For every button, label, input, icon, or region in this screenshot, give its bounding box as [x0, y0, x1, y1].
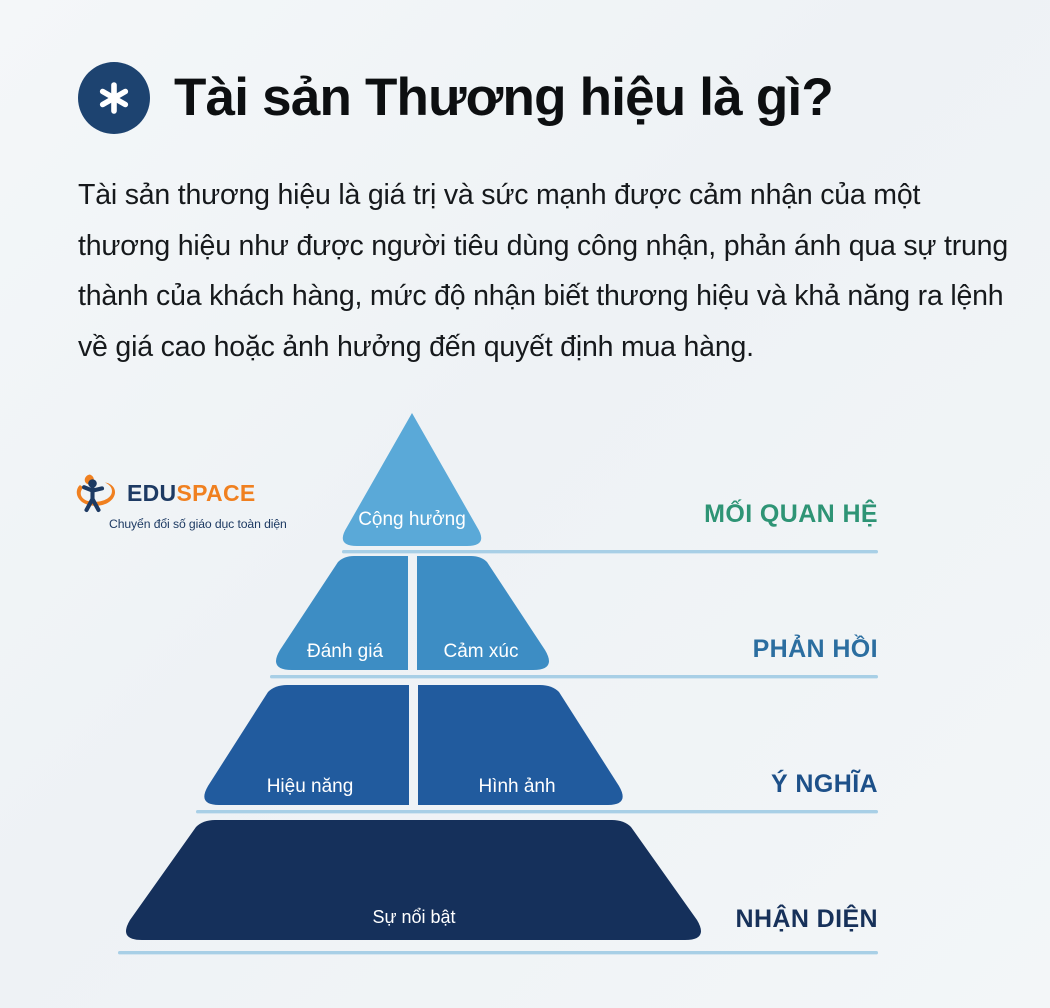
intro-paragraph: Tài sản thương hiệu là giá trị và sức mạ…	[78, 170, 1008, 373]
brand-equity-pyramid: Cộng hưởng Đánh giá Cảm xúc Hiệu năng Hì…	[0, 405, 1050, 990]
pyramid-block-label-1-0: Đánh giá	[307, 641, 383, 662]
pyramid-block-label-2-0: Hiệu năng	[267, 776, 354, 797]
pyramid-block-label-2-1: Hình ảnh	[478, 776, 555, 797]
header: Tài sản Thương hiệu là gì?	[0, 0, 1050, 134]
pyramid-divider-0	[342, 550, 878, 553]
pyramid-divider-1	[270, 675, 878, 678]
pyramid-block-label-3-0: Sự nổi bật	[372, 907, 455, 927]
pyramid-block-label-0-0: Cộng hưởng	[358, 509, 466, 530]
pyramid-divider-2	[196, 810, 878, 813]
pyramid-divider-3	[118, 951, 878, 954]
pyramid-block-label-1-1: Cảm xúc	[444, 641, 519, 662]
asterisk-badge-icon	[78, 62, 150, 134]
page-title: Tài sản Thương hiệu là gì?	[174, 70, 833, 126]
